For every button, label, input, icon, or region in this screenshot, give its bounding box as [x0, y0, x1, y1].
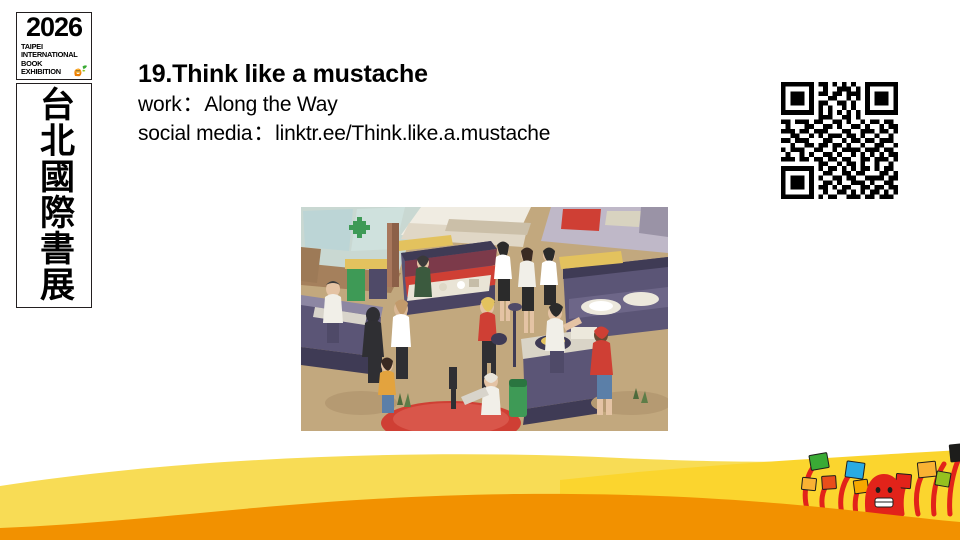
logo-year: 2026: [20, 14, 88, 41]
tibe-mascot: [801, 443, 960, 516]
wave-light-yellow: [0, 452, 960, 540]
slide-canvas: 2026 TAIPEI INTERNATIONAL BOOK EXHIBITIO…: [0, 0, 960, 540]
qr-code[interactable]: [781, 82, 898, 199]
social-media-value: linktr.ee/Think.like.a.mustache: [275, 122, 550, 145]
artwork-image: [301, 207, 668, 431]
wave-mid-yellow: [560, 450, 960, 540]
logo-chinese-name: 台北國際書展: [36, 86, 72, 302]
social-media-line: social media：linktr.ee/Think.like.a.must…: [138, 119, 738, 148]
wave-orange: [0, 494, 960, 540]
social-media-colon: ：: [252, 119, 275, 148]
work-label: work: [138, 93, 182, 116]
social-media-label: social media: [138, 122, 252, 145]
page-title: 19.Think like a mustache: [138, 58, 738, 90]
work-value: Along the Way: [204, 93, 337, 116]
logo-chinese-box: 台北國際書展: [16, 83, 92, 308]
artwork-graphic: [301, 207, 668, 431]
work-line: work：Along the Way: [138, 90, 738, 119]
qr-code-graphic: [781, 82, 898, 199]
logo-english-box: TAIPEI INTERNATIONAL BOOK EXHIBITION: [16, 41, 92, 80]
tibe-mascot-icon: [71, 63, 89, 77]
logo-year-box: 2026: [16, 12, 92, 41]
text-block: 19.Think like a mustache work：Along the …: [138, 58, 738, 148]
work-colon: ：: [182, 90, 205, 119]
tibe-logo: 2026 TAIPEI INTERNATIONAL BOOK EXHIBITIO…: [16, 12, 92, 308]
